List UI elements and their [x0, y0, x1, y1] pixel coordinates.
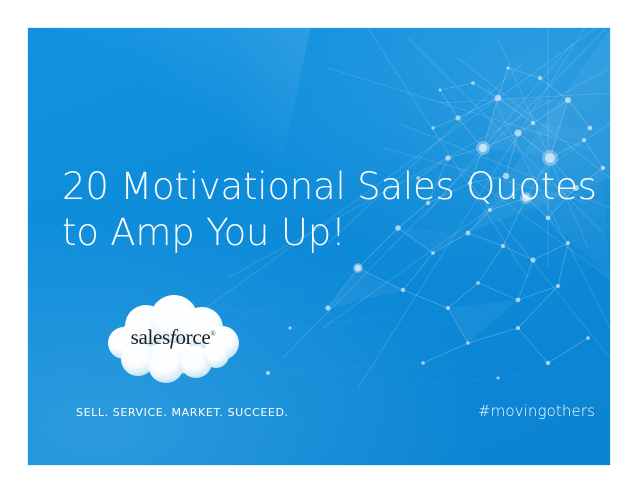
- salesforce-wordmark: salesforce®: [98, 327, 248, 348]
- wordmark-orce: orce: [175, 325, 210, 349]
- salesforce-logo: salesforce®: [98, 293, 248, 388]
- title-line-2: to Amp You Up!: [62, 210, 562, 256]
- trademark-symbol: ®: [210, 330, 215, 338]
- brand-tagline: SELL. SERVICE. MARKET. SUCCEED.: [76, 406, 289, 419]
- wordmark-sales: sales: [131, 325, 170, 349]
- slide-title: 20 Motivational Sales Quotes to Amp You …: [62, 164, 562, 256]
- title-slide: 20 Motivational Sales Quotes to Amp You …: [28, 28, 610, 465]
- slide-page: 20 Motivational Sales Quotes to Amp You …: [0, 0, 638, 493]
- title-line-1: 20 Motivational Sales Quotes: [62, 164, 562, 210]
- hashtag-label: #movingothers: [478, 402, 595, 420]
